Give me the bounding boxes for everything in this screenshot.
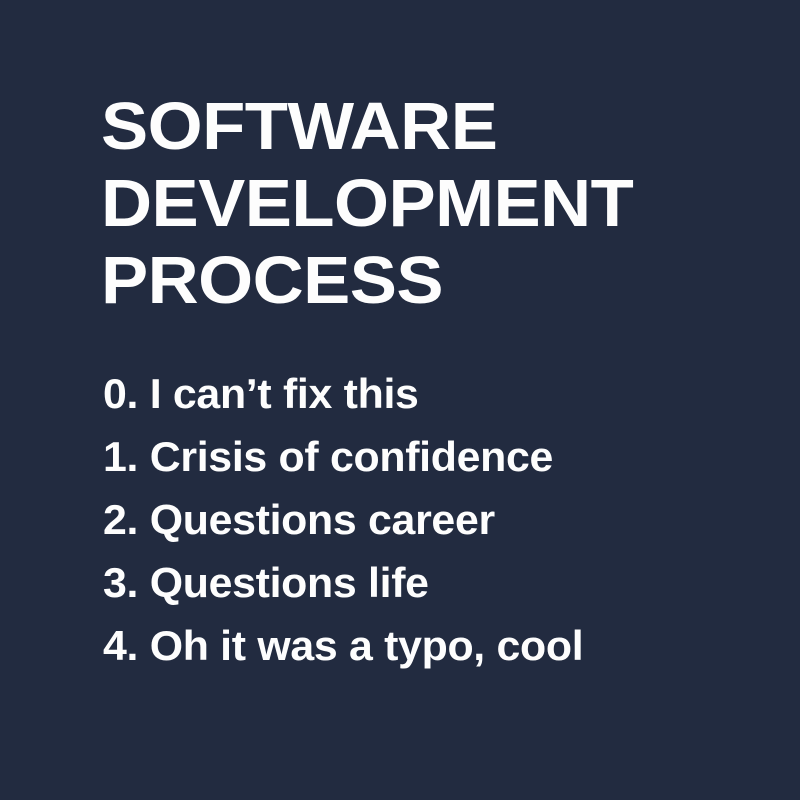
list-item: 4. Oh it was a typo, cool <box>103 614 756 677</box>
page-title: SOFTWARE DEVELOPMENT PROCESS <box>101 88 721 319</box>
list-item: 1. Crisis of confidence <box>103 425 756 488</box>
title-line-2: DEVELOPMENT <box>101 165 755 242</box>
list-item: 0. I can’t fix this <box>103 362 756 425</box>
poster-canvas: SOFTWARE DEVELOPMENT PROCESS 0. I can’t … <box>0 0 800 800</box>
list-item: 2. Questions career <box>103 488 756 551</box>
list-item: 3. Questions life <box>103 551 756 614</box>
title-line-3: PROCESS <box>101 242 755 319</box>
title-line-1: SOFTWARE <box>101 88 755 165</box>
process-step-list: 0. I can’t fix this 1. Crisis of confide… <box>103 362 743 677</box>
